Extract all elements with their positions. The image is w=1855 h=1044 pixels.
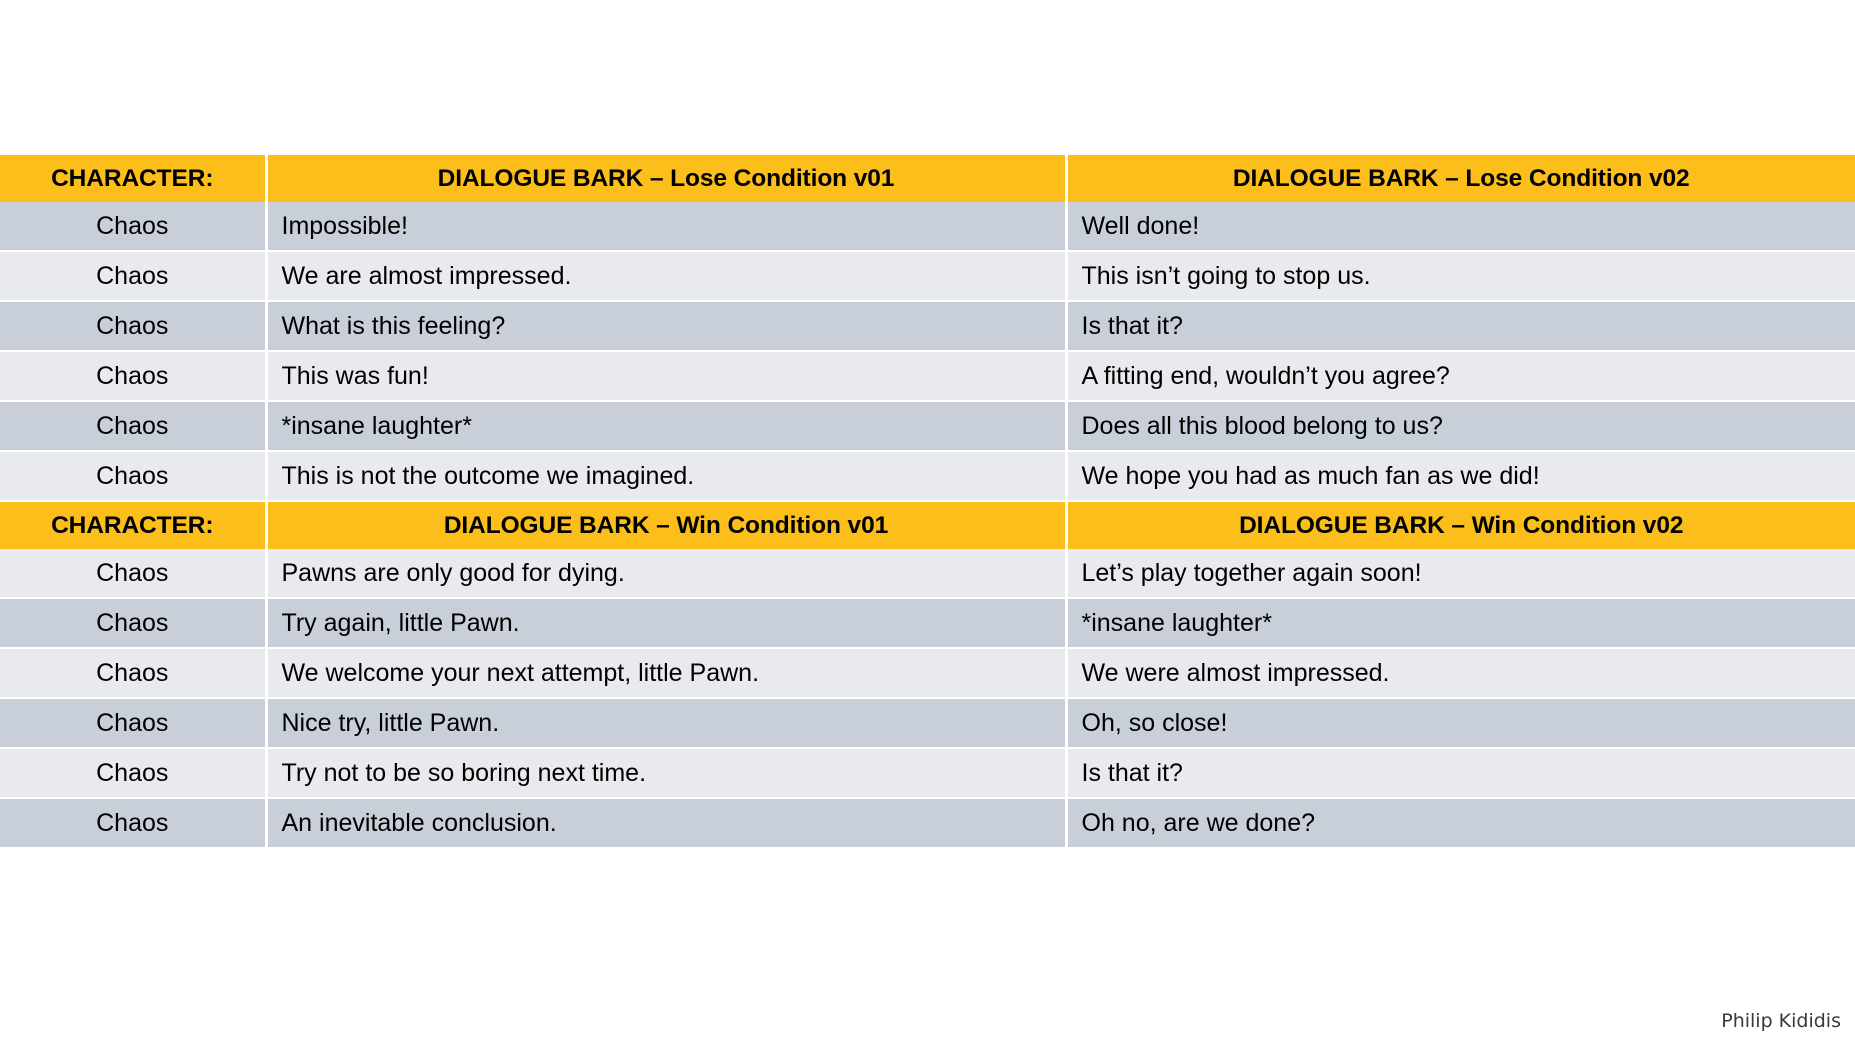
dialogue-cell-v02: Let’s play together again soon! (1066, 549, 1855, 598)
dialogue-cell-v02: We were almost impressed. (1066, 648, 1855, 698)
table-row: ChaosThis is not the outcome we imagined… (0, 451, 1855, 501)
dialogue-cell-v01: An inevitable conclusion. (266, 798, 1066, 848)
dialogue-cell-v01: This was fun! (266, 351, 1066, 401)
dialogue-cell-v01: Nice try, little Pawn. (266, 698, 1066, 748)
dialogue-bark-table: CHARACTER:DIALOGUE BARK – Lose Condition… (0, 155, 1855, 849)
dialogue-cell-v02: *insane laughter* (1066, 598, 1855, 648)
dialogue-cell-v02: Is that it? (1066, 748, 1855, 798)
dialogue-cell-v02: We hope you had as much fan as we did! (1066, 451, 1855, 501)
column-header-character: CHARACTER: (0, 501, 266, 549)
dialogue-cell-v01: Pawns are only good for dying. (266, 549, 1066, 598)
dialogue-cell-v01: We are almost impressed. (266, 251, 1066, 301)
dialogue-cell-v02: This isn’t going to stop us. (1066, 251, 1855, 301)
column-header-lose-v01: DIALOGUE BARK – Lose Condition v01 (266, 155, 1066, 202)
dialogue-cell-v01: What is this feeling? (266, 301, 1066, 351)
dialogue-cell-v01: We welcome your next attempt, little Paw… (266, 648, 1066, 698)
section-header-row-win: CHARACTER:DIALOGUE BARK – Win Condition … (0, 501, 1855, 549)
character-cell: Chaos (0, 202, 266, 251)
dialogue-cell-v02: Oh no, are we done? (1066, 798, 1855, 848)
table-row: ChaosImpossible!Well done! (0, 202, 1855, 251)
character-cell: Chaos (0, 549, 266, 598)
character-cell: Chaos (0, 301, 266, 351)
character-cell: Chaos (0, 698, 266, 748)
character-cell: Chaos (0, 798, 266, 848)
dialogue-cell-v02: Is that it? (1066, 301, 1855, 351)
dialogue-cell-v01: Try not to be so boring next time. (266, 748, 1066, 798)
character-cell: Chaos (0, 401, 266, 451)
dialogue-cell-v02: Well done! (1066, 202, 1855, 251)
character-cell: Chaos (0, 251, 266, 301)
dialogue-cell-v02: Oh, so close! (1066, 698, 1855, 748)
table-row: ChaosAn inevitable conclusion.Oh no, are… (0, 798, 1855, 848)
character-cell: Chaos (0, 748, 266, 798)
table-row: ChaosWhat is this feeling?Is that it? (0, 301, 1855, 351)
slide-page: CHARACTER:DIALOGUE BARK – Lose Condition… (0, 0, 1855, 1044)
dialogue-bark-table-container: CHARACTER:DIALOGUE BARK – Lose Condition… (0, 155, 1855, 849)
table-row: ChaosNice try, little Pawn.Oh, so close! (0, 698, 1855, 748)
table-row: ChaosThis was fun!A fitting end, wouldn’… (0, 351, 1855, 401)
column-header-win-v01: DIALOGUE BARK – Win Condition v01 (266, 501, 1066, 549)
character-cell: Chaos (0, 351, 266, 401)
character-cell: Chaos (0, 598, 266, 648)
table-row: Chaos*insane laughter*Does all this bloo… (0, 401, 1855, 451)
dialogue-cell-v01: Try again, little Pawn. (266, 598, 1066, 648)
table-row: ChaosTry again, little Pawn.*insane laug… (0, 598, 1855, 648)
column-header-character: CHARACTER: (0, 155, 266, 202)
table-body: CHARACTER:DIALOGUE BARK – Lose Condition… (0, 155, 1855, 848)
table-row: ChaosWe are almost impressed.This isn’t … (0, 251, 1855, 301)
column-header-lose-v02: DIALOGUE BARK – Lose Condition v02 (1066, 155, 1855, 202)
table-row: ChaosTry not to be so boring next time.I… (0, 748, 1855, 798)
table-row: ChaosWe welcome your next attempt, littl… (0, 648, 1855, 698)
character-cell: Chaos (0, 648, 266, 698)
table-row: ChaosPawns are only good for dying.Let’s… (0, 549, 1855, 598)
dialogue-cell-v01: This is not the outcome we imagined. (266, 451, 1066, 501)
character-cell: Chaos (0, 451, 266, 501)
section-header-row-lose: CHARACTER:DIALOGUE BARK – Lose Condition… (0, 155, 1855, 202)
dialogue-cell-v01: *insane laughter* (266, 401, 1066, 451)
dialogue-cell-v02: A fitting end, wouldn’t you agree? (1066, 351, 1855, 401)
dialogue-cell-v02: Does all this blood belong to us? (1066, 401, 1855, 451)
column-header-win-v02: DIALOGUE BARK – Win Condition v02 (1066, 501, 1855, 549)
dialogue-cell-v01: Impossible! (266, 202, 1066, 251)
author-credit: Philip Kididis (1721, 1010, 1841, 1032)
